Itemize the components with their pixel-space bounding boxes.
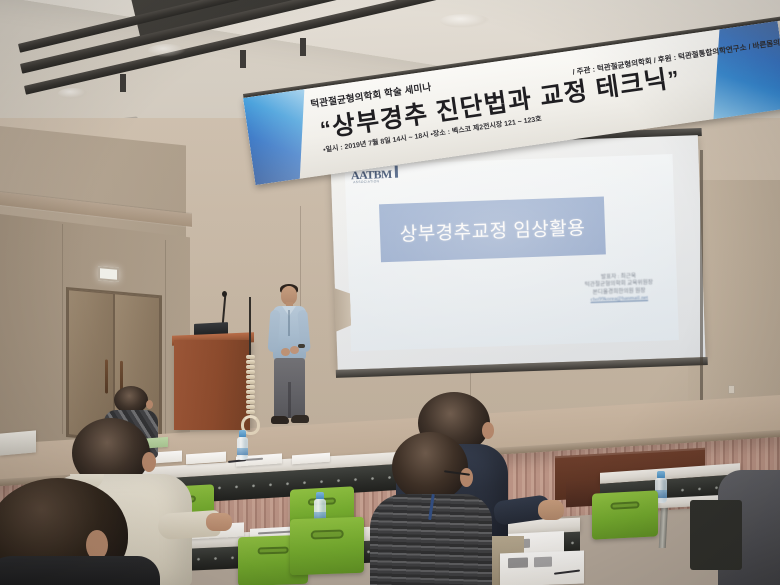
paper-text-line [258, 531, 292, 535]
anatomical-spine-model [243, 355, 257, 433]
wooden-podium [174, 340, 250, 430]
paper-figure [508, 557, 528, 568]
credit-email: cho99korea@hanmail.net [585, 295, 654, 305]
presenter-standing [268, 286, 310, 432]
water-bottle [237, 430, 248, 460]
person-hand [206, 513, 232, 531]
bottle-label [237, 448, 248, 455]
projection-screen: AATBM ASSOCIATION 상부경추교정 임상활용 발표자 : 최근욱 … [330, 135, 706, 370]
presenter-wristwatch [298, 344, 305, 348]
person-shoulders [0, 556, 160, 585]
dark-chair[interactable] [690, 500, 742, 570]
microphone-head-icon [222, 291, 227, 297]
presenter-shoe-right [291, 415, 309, 423]
beam-bracket [240, 50, 246, 68]
slide-credits: 발표자 : 최근욱 턱관절균형의학회 교육위원장 본디올경희한의원 원장 cho… [584, 273, 653, 305]
person-hand [538, 500, 564, 520]
presenter-shoe-left [271, 416, 289, 424]
presenter-hand-left [281, 348, 290, 356]
slide-title: 상부경추교정 임상활용 [399, 213, 585, 246]
beam-bracket [300, 38, 306, 56]
paper-figure [534, 557, 552, 568]
presenter-hand-right [290, 346, 299, 354]
person-head [392, 432, 468, 502]
exit-sign [98, 266, 119, 282]
equipment-box [0, 430, 36, 455]
wall-seam [62, 224, 63, 434]
screen-surface: AATBM ASSOCIATION 상부경추교정 임상활용 발표자 : 최근욱 … [330, 135, 706, 370]
person-ear [460, 468, 473, 487]
audience-chair[interactable] [592, 490, 658, 539]
person-ear [142, 452, 156, 472]
photo-scene: AATBM ASSOCIATION 상부경추교정 임상활용 발표자 : 최근욱 … [0, 0, 780, 585]
banner-graphic-right [700, 21, 780, 122]
audience-person [370, 432, 492, 585]
audience-chair[interactable] [290, 517, 364, 576]
person-ear [146, 400, 153, 409]
ceiling-light [148, 44, 186, 57]
presentation-slide: AATBM ASSOCIATION 상부경추교정 임상활용 발표자 : 최근욱 … [345, 154, 679, 351]
banner-quote-close: ” [666, 66, 682, 92]
logo-tagline: ASSOCIATION [353, 179, 379, 184]
banner-graphic-left [243, 89, 317, 185]
spine-stand-rod [249, 297, 251, 357]
logo-accent-bar [395, 166, 398, 178]
presenter-shirt-placket [288, 310, 290, 336]
chair-handle-slot [258, 546, 289, 554]
ceiling-light [58, 88, 88, 99]
beam-bracket [120, 74, 126, 92]
bottle-body [237, 437, 248, 460]
wall-outlet [728, 385, 735, 394]
slide-title-box: 상부경추교정 임상활용 [379, 196, 606, 262]
screen-left-notch [334, 287, 352, 332]
wall-seam [165, 240, 166, 440]
chair-handle-slot [311, 530, 344, 540]
chair-handle-slot [610, 501, 639, 509]
pen [554, 570, 580, 575]
handout-paper [500, 551, 584, 585]
presenter-leg-separation [288, 382, 291, 418]
ceiling-light [440, 14, 490, 28]
